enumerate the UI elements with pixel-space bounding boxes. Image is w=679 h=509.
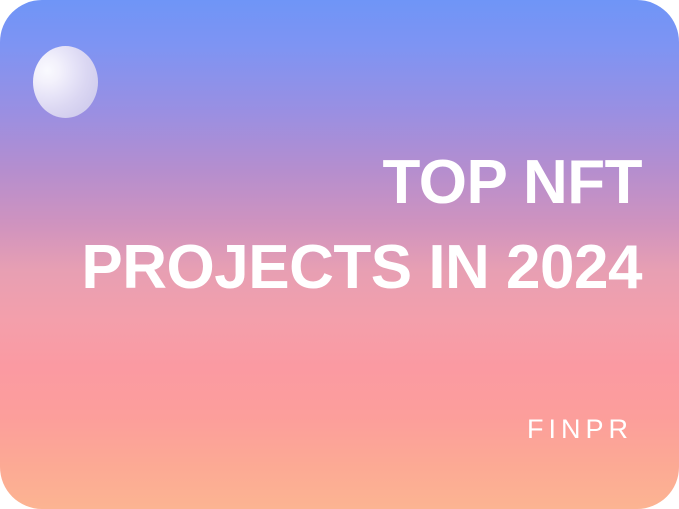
- title-line-1: TOP NFT: [30, 140, 642, 225]
- nft-banner-card: TOP NFT PROJECTS IN 2024 FINPR: [0, 0, 679, 509]
- brand-logo-text: FINPR: [522, 416, 633, 443]
- page-title: TOP NFT PROJECTS IN 2024: [30, 140, 642, 310]
- title-line-2: PROJECTS IN 2024: [30, 225, 642, 310]
- sphere-decoration-icon: [33, 46, 98, 118]
